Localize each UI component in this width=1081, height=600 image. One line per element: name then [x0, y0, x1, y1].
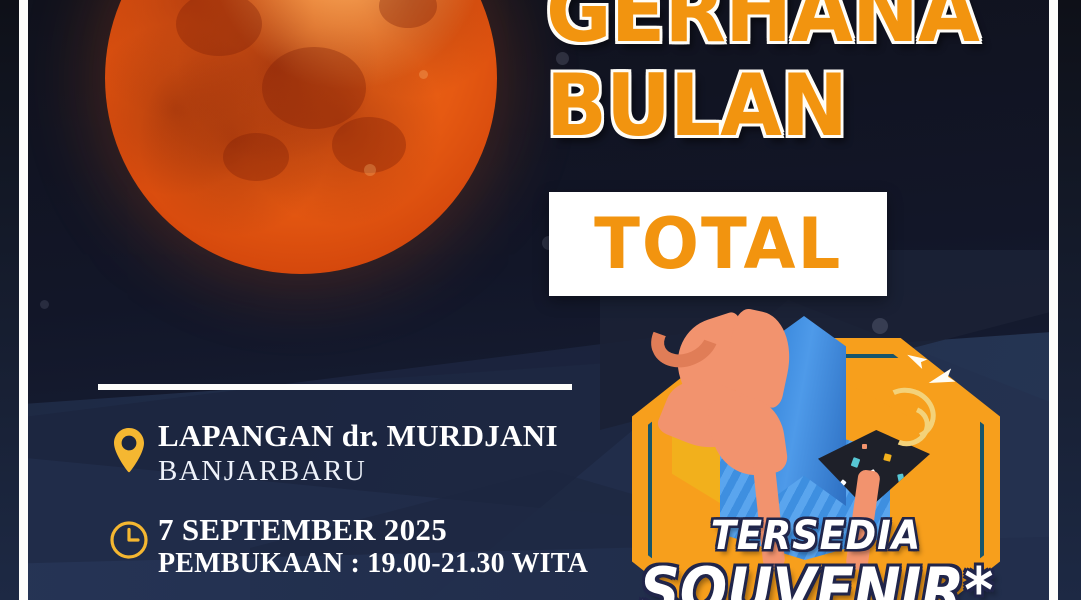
confetti-piece	[883, 453, 892, 462]
headline-line-2: BULAN	[546, 66, 1030, 148]
venue-name: LAPANGAN dr. MURDJANI	[158, 420, 660, 453]
moon-crater	[223, 133, 289, 181]
moon-crater	[262, 47, 366, 129]
right-edge-strip	[1058, 0, 1081, 600]
schedule-time: PEMBUKAAN : 19.00-21.30 WITA	[158, 549, 660, 580]
poster-root: GERHANA BULAN TOTAL LAPANGAN dr. MURDJAN…	[0, 0, 1081, 600]
headline-emphasis-text: TOTAL	[594, 209, 842, 279]
moon-crater	[176, 0, 262, 56]
confetti-piece	[851, 457, 861, 468]
left-white-rule	[19, 0, 28, 600]
confetti-piece	[862, 444, 867, 449]
sparkle-icon	[905, 350, 928, 369]
left-edge-strip	[0, 0, 19, 600]
venue-text: LAPANGAN dr. MURDJANI BANJARBARU	[158, 420, 660, 488]
souvenir-badge: TERSEDIA SOUVENIR*	[620, 310, 1012, 600]
clock-icon	[100, 514, 158, 560]
moon-crater	[379, 0, 437, 28]
schedule-row: 7 SEPTEMBER 2025 PEMBUKAAN : 19.00-21.30…	[100, 514, 660, 580]
star-dot	[40, 300, 49, 309]
blood-moon-photo	[105, 0, 497, 274]
badge-line-2: SOUVENIR*	[640, 560, 993, 600]
confetti-piece	[897, 473, 905, 483]
moon-speck	[364, 164, 376, 176]
badge-text-block: TERSEDIA SOUVENIR*	[620, 516, 1012, 600]
venue-city: BANJARBARU	[158, 455, 660, 488]
moon-disc	[105, 0, 497, 274]
headline-line-1: GERHANA	[546, 0, 1030, 54]
headline-emphasis-box: TOTAL	[549, 192, 887, 296]
schedule-text: 7 SEPTEMBER 2025 PEMBUKAAN : 19.00-21.30…	[158, 514, 660, 580]
location-pin-icon	[100, 420, 158, 474]
venue-row: LAPANGAN dr. MURDJANI BANJARBARU	[100, 420, 660, 488]
divider-line	[98, 384, 572, 390]
moon-speck	[419, 70, 428, 79]
event-info-block: LAPANGAN dr. MURDJANI BANJARBARU 7 SEPTE…	[100, 420, 660, 600]
schedule-date: 7 SEPTEMBER 2025	[158, 514, 660, 547]
badge-line-1: TERSEDIA	[636, 516, 997, 556]
headline-block: GERHANA BULAN	[546, 0, 1066, 147]
right-white-rule	[1049, 0, 1058, 600]
